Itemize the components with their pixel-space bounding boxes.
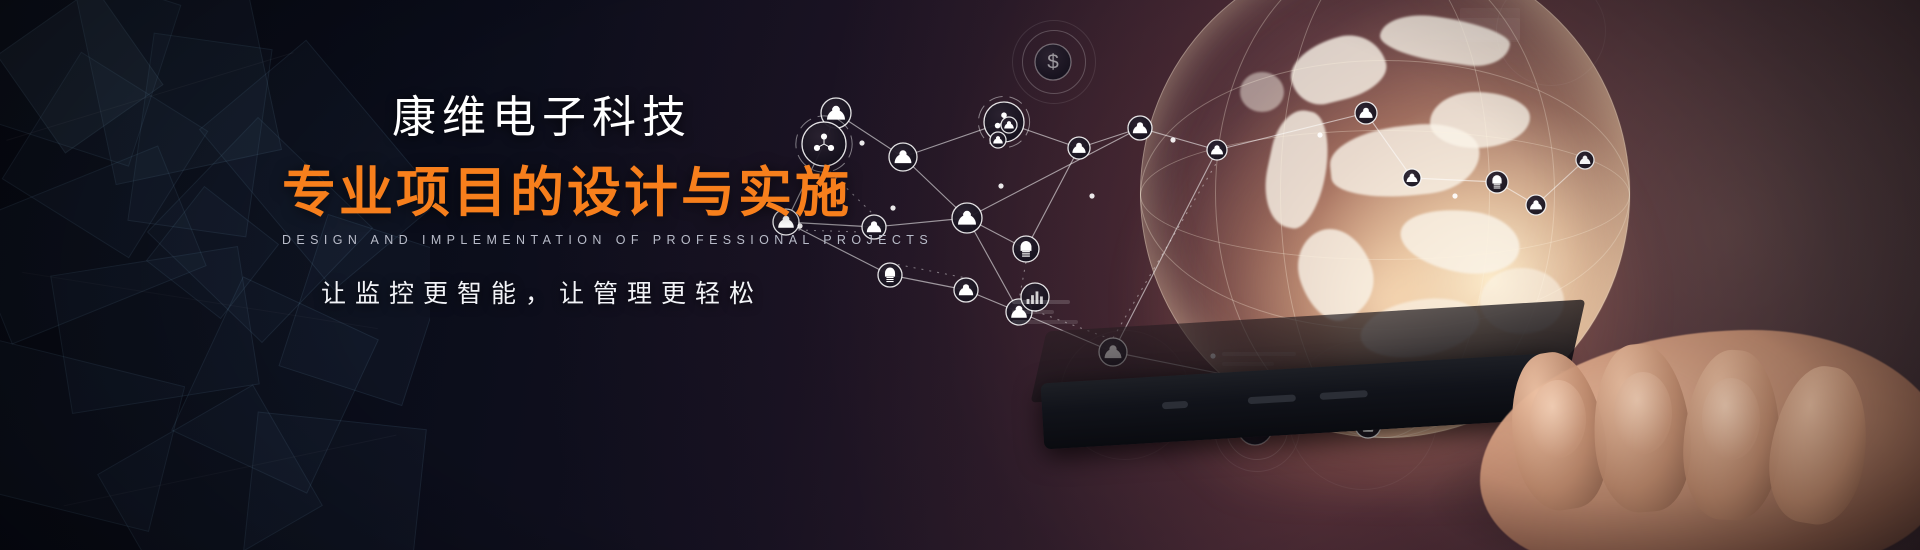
banner-copy-block: 康维电子科技 专业项目的设计与实施 DESIGN AND IMPLEMENTAT…	[282, 96, 802, 310]
subtitle-english: DESIGN AND IMPLEMENTATION OF PROFESSIONA…	[282, 233, 802, 247]
tagline: 让监控更智能，让管理更轻松	[282, 274, 802, 310]
company-title: 康维电子科技	[282, 96, 802, 140]
headline: 专业项目的设计与实施	[282, 166, 802, 220]
hero-banner: $$ 康维电子科技 专业项	[0, 0, 1920, 550]
